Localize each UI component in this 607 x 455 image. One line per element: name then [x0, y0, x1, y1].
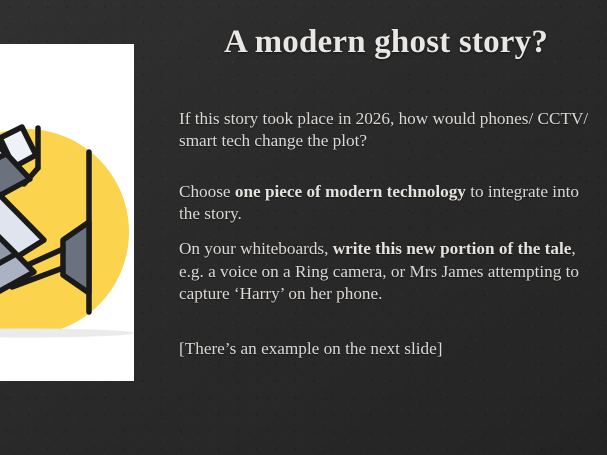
presentation-slide: A modern ghost story? If this story took…	[0, 0, 607, 455]
body-paragraph-1: If this story took place in 2026, how wo…	[179, 108, 599, 153]
cctv-camera-icon	[0, 44, 134, 381]
page-title: A modern ghost story?	[165, 24, 607, 62]
slide-body: If this story took place in 2026, how wo…	[179, 108, 599, 360]
paragraph-2-lead: Choose	[179, 182, 235, 201]
paragraph-3-emphasis: write this new portion of the tale	[333, 239, 572, 258]
body-paragraph-2: Choose one piece of modern technology to…	[179, 181, 599, 226]
body-paragraph-4-note: [There’s an example on the next slide]	[179, 338, 599, 360]
body-paragraph-3: On your whiteboards, write this new port…	[179, 238, 599, 305]
illustration-card	[0, 44, 134, 381]
paragraph-3-lead: On your whiteboards,	[179, 239, 333, 258]
paragraph-2-emphasis: one piece of modern technology	[235, 182, 466, 201]
slide-content: A modern ghost story? If this story took…	[165, 0, 607, 455]
